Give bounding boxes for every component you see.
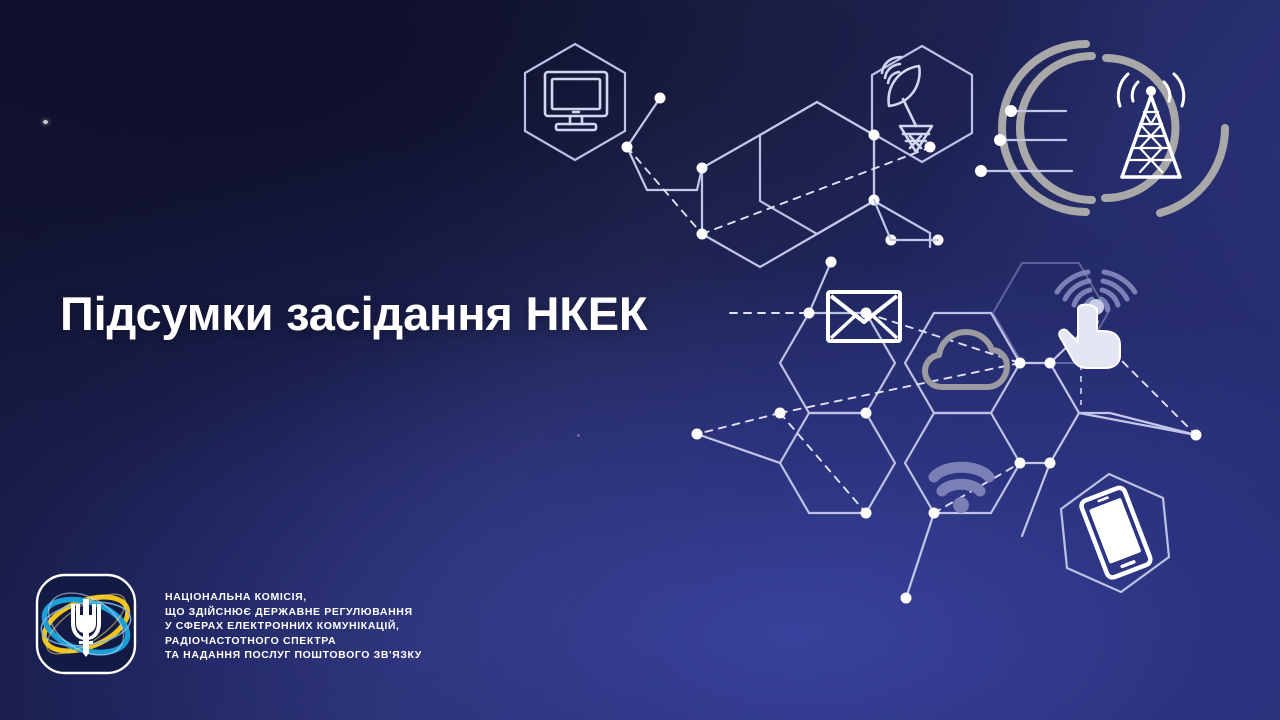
link-lower-chain bbox=[702, 135, 874, 267]
link-right-tail bbox=[1079, 413, 1196, 435]
link-bottom-stub bbox=[874, 200, 938, 240]
slide-canvas: .hex { fill:none; stroke:#bcc1e6; stroke… bbox=[0, 0, 1280, 720]
network-node bbox=[775, 408, 786, 419]
network-node bbox=[901, 593, 912, 604]
desktop-monitor-icon bbox=[545, 72, 607, 130]
tower-arc-outer-right bbox=[1160, 128, 1225, 213]
hexagon-wifi bbox=[905, 413, 1020, 513]
link-join-b bbox=[872, 133, 874, 200]
network-node bbox=[655, 93, 666, 104]
dashed-diag-4 bbox=[780, 413, 866, 513]
dashed-diag-6 bbox=[1093, 332, 1196, 435]
network-node bbox=[886, 235, 897, 246]
background-star bbox=[577, 434, 580, 437]
logo-line-2: ЩО ЗДІЙСНЮЄ ДЕРЖАВНЕ РЕГУЛЮВАННЯ bbox=[165, 606, 422, 619]
link-right-hex bbox=[1020, 363, 1079, 463]
network-node bbox=[804, 308, 815, 319]
network-node bbox=[622, 142, 633, 153]
network-node bbox=[1191, 430, 1202, 441]
network-node bbox=[861, 508, 872, 519]
network-node bbox=[692, 429, 703, 440]
link-to-hand bbox=[1050, 322, 1093, 363]
link-right-tail-2 bbox=[1079, 413, 1196, 435]
network-node bbox=[929, 508, 940, 519]
network-node bbox=[933, 235, 944, 246]
network-node bbox=[861, 308, 872, 319]
link-sat-join bbox=[872, 133, 874, 135]
dashed-link-2 bbox=[702, 147, 931, 234]
link-left-out bbox=[697, 434, 780, 463]
background-star bbox=[43, 120, 48, 124]
logo-line-4: РАДІОЧАСТОТНОГО СПЕКТРА bbox=[165, 635, 422, 648]
link-monitor-chain bbox=[627, 147, 702, 190]
hand-cursor-icon bbox=[1057, 272, 1135, 368]
satellite-dish-icon bbox=[882, 57, 932, 152]
logo-line-5: ТА НАДАННЯ ПОСЛУГ ПОШТОВОГО ЗВ'ЯЗКУ bbox=[165, 649, 422, 662]
radio-tower-group bbox=[975, 44, 1225, 213]
tower-feed-lines bbox=[975, 105, 1072, 177]
hexagon-faint bbox=[993, 263, 1108, 363]
tower-arc-right bbox=[1105, 58, 1176, 198]
logo-line-1: НАЦІОНАЛЬНА КОМІСІЯ, bbox=[165, 591, 422, 604]
tower-signal-waves bbox=[1118, 74, 1183, 106]
network-node bbox=[1088, 317, 1099, 328]
hexagon-empty-left bbox=[780, 413, 895, 513]
logo-mark[interactable] bbox=[33, 571, 139, 677]
bottom-hexagon-network bbox=[692, 257, 1202, 604]
network-node bbox=[869, 195, 880, 206]
network-node bbox=[861, 408, 872, 419]
network-node bbox=[1015, 358, 1026, 369]
logo-line-3: У СФЕРАХ ЕЛЕКТРОННИХ КОМУНІКАЦІЙ, bbox=[165, 620, 422, 633]
network-node bbox=[1045, 358, 1056, 369]
hexagon-satellite bbox=[872, 46, 972, 162]
network-node bbox=[1045, 458, 1056, 469]
dashed-diag-3 bbox=[697, 413, 780, 434]
link-stub-mail-top bbox=[809, 262, 831, 313]
dashed-diag-2 bbox=[780, 363, 1020, 413]
tower-arc-left-outer bbox=[1002, 44, 1086, 212]
page-title: Підсумки засідання НКЕК bbox=[60, 286, 647, 341]
link-to-phone bbox=[1022, 463, 1050, 536]
radio-tower-icon bbox=[1118, 74, 1183, 177]
smartphone-group bbox=[1061, 474, 1169, 592]
network-node bbox=[925, 142, 936, 153]
link-stub-up bbox=[627, 98, 660, 147]
top-hexagon-network bbox=[525, 44, 972, 267]
dashed-diag-1 bbox=[866, 313, 1020, 363]
envelope-icon bbox=[828, 292, 900, 341]
link-bottom-out bbox=[906, 513, 934, 598]
nkek-emblem-icon bbox=[33, 571, 139, 677]
smartphone-icon bbox=[1080, 486, 1152, 579]
tower-arc-left-inner bbox=[1020, 56, 1092, 200]
network-node bbox=[1015, 458, 1026, 469]
hexagon-smartphone bbox=[1061, 474, 1169, 592]
dashed-diag-5 bbox=[934, 463, 1020, 513]
cloud-icon bbox=[925, 332, 1007, 387]
footer-branding: НАЦІОНАЛЬНА КОМІСІЯ, ЩО ЗДІЙСНЮЄ ДЕРЖАВН… bbox=[33, 571, 422, 677]
wifi-icon bbox=[934, 467, 989, 513]
network-node bbox=[869, 130, 880, 141]
link-to-bottom bbox=[874, 201, 930, 247]
hexagon-cloud bbox=[905, 313, 1020, 413]
hexagon-mail bbox=[780, 313, 895, 413]
link-upper-chain bbox=[702, 102, 874, 168]
hexagon-monitor bbox=[525, 44, 625, 160]
hexagon-mid-a bbox=[760, 102, 874, 234]
network-node bbox=[697, 229, 708, 240]
dashed-link-1 bbox=[627, 147, 702, 234]
network-node bbox=[697, 163, 708, 174]
network-node bbox=[826, 257, 837, 268]
logo-wordmark: НАЦІОНАЛЬНА КОМІСІЯ, ЩО ЗДІЙСНЮЄ ДЕРЖАВН… bbox=[165, 586, 422, 662]
